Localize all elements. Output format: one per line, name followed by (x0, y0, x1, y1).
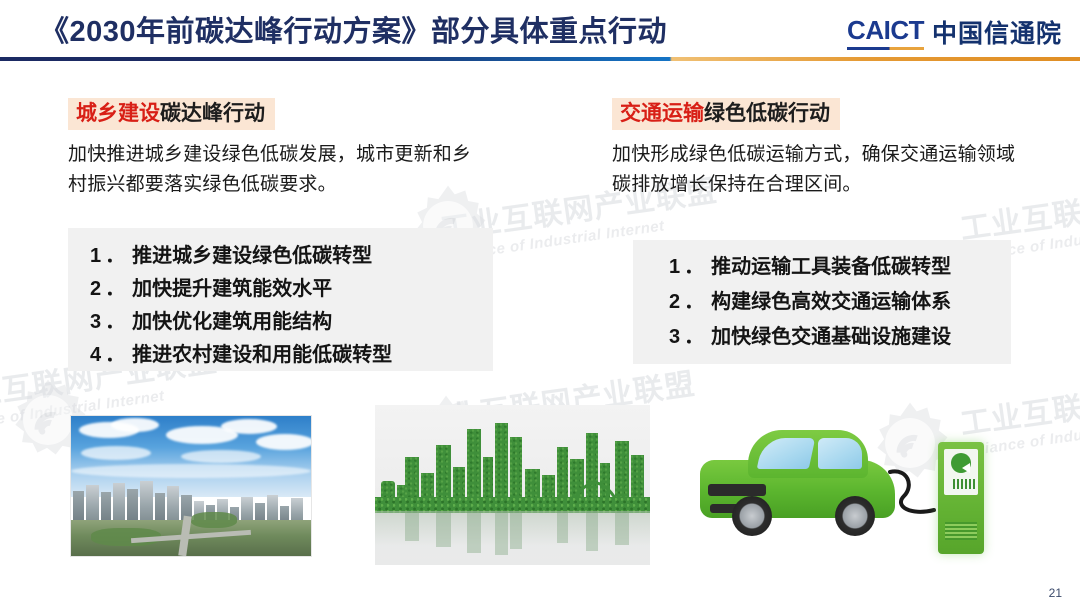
cloud (221, 419, 277, 434)
list-item-dot: ． (684, 292, 704, 312)
section-right-heading: 交通运输绿色低碳行动 (612, 98, 840, 130)
brand-logo: CAICT 中国信通院 (847, 14, 1062, 50)
list-item-label: 加快优化建筑用能结构 (132, 312, 332, 332)
arrow-icon (962, 463, 970, 473)
section-right-body: 加快形成绿色低碳运输方式，确保交通运输领域碳排放增长保持在合理区间。 (612, 140, 1032, 199)
list-item-label: 构建绿色高效交通运输体系 (711, 292, 951, 312)
list-item-dot: ． (684, 327, 704, 347)
green-grass-city-skyline-illustration (375, 405, 650, 565)
section-right: 交通运输绿色低碳行动 加快形成绿色低碳运输方式，确保交通运输领域碳排放增长保持在… (612, 98, 1032, 199)
list-item-number: 1 (90, 246, 101, 266)
list-item-label: 推进城乡建设绿色低碳转型 (132, 246, 372, 266)
list-item-number: 3 (669, 327, 680, 347)
list-item-dot: ． (105, 345, 125, 365)
front-wheel (732, 496, 772, 536)
charger-vents (945, 522, 977, 540)
plug-icon (951, 453, 971, 473)
list-item-label: 加快绿色交通基础设施建设 (711, 327, 951, 347)
section-left-heading: 城乡建设碳达峰行动 (68, 98, 275, 130)
cloud (111, 418, 159, 432)
aerial-cityscape-photo (70, 415, 312, 557)
brand-abbreviation: CAICT (847, 15, 924, 50)
list-item-dot: ． (684, 257, 704, 277)
list-item-number: 2 (669, 292, 680, 312)
list-item: 1．推动运输工具装备低碳转型 (633, 257, 1011, 277)
heading-highlight: 交通运输 (620, 102, 704, 125)
header-divider (0, 57, 1080, 61)
section-left-body: 加快推进城乡建设绿色低碳发展，城市更新和乡村振兴都要落实绿色低碳要求。 (68, 140, 488, 199)
list-item-dot: ． (105, 312, 125, 332)
cloud (81, 446, 151, 460)
list-item: 4．推进农村建设和用能低碳转型 (68, 345, 493, 365)
slide: 工业互联网产业联盟 Alliance of Industrial Interne… (0, 0, 1080, 608)
brand-chinese-name: 中国信通院 (932, 14, 1062, 50)
green-electric-car-charging-illustration (690, 418, 990, 568)
list-item-number: 1 (669, 257, 680, 277)
heading-highlight: 城乡建设 (76, 102, 160, 125)
green-area (191, 512, 237, 528)
charger-screen[interactable] (944, 449, 978, 495)
list-item: 2．加快提升建筑能效水平 (68, 279, 493, 299)
page-title: 《2030年前碳达峰行动方案》部分具体重点行动 (40, 8, 667, 50)
slide-header: 《2030年前碳达峰行动方案》部分具体重点行动 CAICT 中国信通院 (0, 0, 1080, 62)
heading-rest: 碳达峰行动 (160, 102, 265, 125)
cloud (256, 434, 312, 450)
list-item-number: 2 (90, 279, 101, 299)
charger-display-bars (953, 479, 977, 489)
list-item-label: 推进农村建设和用能低碳转型 (132, 345, 392, 365)
front-grille (708, 484, 766, 496)
cloud (71, 464, 311, 478)
list-item-dot: ． (105, 246, 125, 266)
list-item-label: 加快提升建筑能效水平 (132, 279, 332, 299)
list-item: 3．加快优化建筑用能结构 (68, 312, 493, 332)
side-window (818, 438, 862, 469)
list-item: 2．构建绿色高效交通运输体系 (633, 292, 1011, 312)
section-left-list-box: 1．推进城乡建设绿色低碳转型 2．加快提升建筑能效水平 3．加快优化建筑用能结构… (68, 228, 493, 371)
charging-station (938, 442, 984, 554)
heading-rest: 绿色低碳行动 (704, 102, 830, 125)
cloud (181, 450, 261, 463)
section-left-list: 1．推进城乡建设绿色低碳转型 2．加快提升建筑能效水平 3．加快优化建筑用能结构… (68, 246, 493, 365)
list-item-dot: ． (105, 279, 125, 299)
list-item-label: 推动运输工具装备低碳转型 (711, 257, 951, 277)
rear-wheel (835, 496, 875, 536)
list-item-number: 3 (90, 312, 101, 332)
reflection (375, 511, 650, 557)
section-right-list-box: 1．推动运输工具装备低碳转型 2．构建绿色高效交通运输体系 3．加快绿色交通基础… (633, 240, 1011, 364)
section-left: 城乡建设碳达峰行动 加快推进城乡建设绿色低碳发展，城市更新和乡村振兴都要落实绿色… (68, 98, 488, 199)
list-item: 3．加快绿色交通基础设施建设 (633, 327, 1011, 347)
section-right-list: 1．推动运输工具装备低碳转型 2．构建绿色高效交通运输体系 3．加快绿色交通基础… (633, 257, 1011, 347)
list-item-number: 4 (90, 345, 101, 365)
page-number: 21 (1049, 586, 1062, 600)
list-item: 1．推进城乡建设绿色低碳转型 (68, 246, 493, 266)
